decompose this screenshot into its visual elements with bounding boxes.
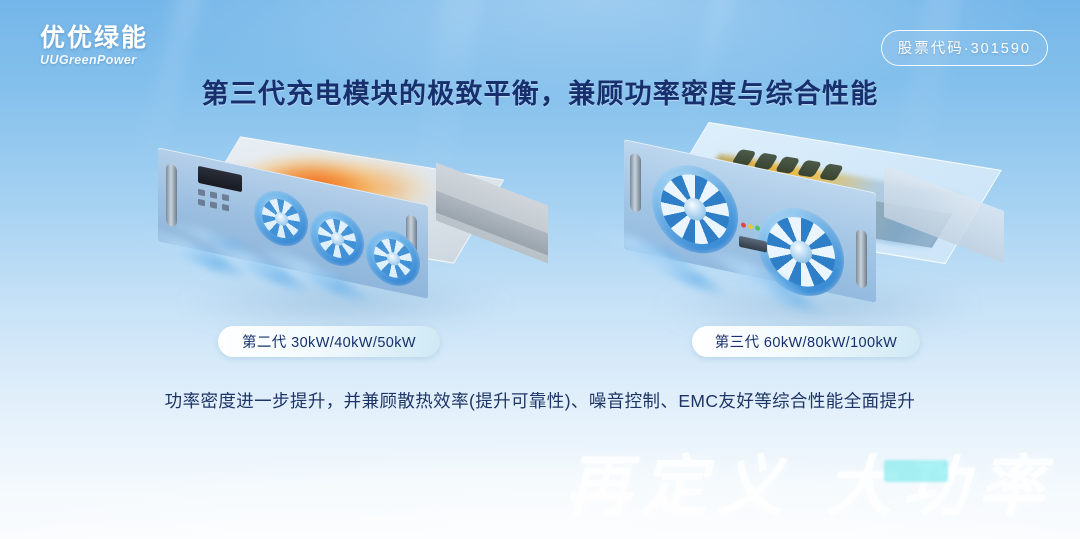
brand-name-cn: 优优绿能 [40, 26, 148, 51]
watermark-text: 再定义 大功率 [565, 433, 1054, 529]
product-image-gen2 [140, 140, 540, 330]
brand-name-en: UUGreenPower [40, 54, 148, 67]
stock-code-badge: 股票代码·301590 [881, 30, 1048, 66]
handle-icon [856, 229, 867, 289]
caption-pill-gen3: 第三代 60kW/80kW/100kW [692, 326, 920, 357]
handle-icon [166, 163, 177, 227]
fan-icon [310, 206, 364, 271]
slide-canvas: 优优绿能 UUGreenPower 股票代码·301590 第三代充电模块的极致… [0, 0, 1080, 539]
watermark-badge [884, 460, 948, 482]
brand-logo: 优优绿能 UUGreenPower [40, 26, 148, 67]
product-image-gen3 [608, 136, 1028, 336]
lcd-display [198, 166, 242, 192]
product-comparison-stage [0, 128, 1080, 338]
handle-icon [630, 152, 641, 212]
status-led-group [741, 222, 763, 234]
caption-pill-gen2: 第二代 30kW/40kW/50kW [218, 326, 440, 357]
keypad [198, 189, 244, 217]
fan-icon [652, 157, 738, 261]
footer-description: 功率密度进一步提升，并兼顾散热效率(提升可靠性)、噪音控制、EMC友好等综合性能… [0, 388, 1080, 413]
fan-icon [254, 186, 308, 251]
page-title: 第三代充电模块的极致平衡，兼顾功率密度与综合性能 [0, 72, 1080, 111]
